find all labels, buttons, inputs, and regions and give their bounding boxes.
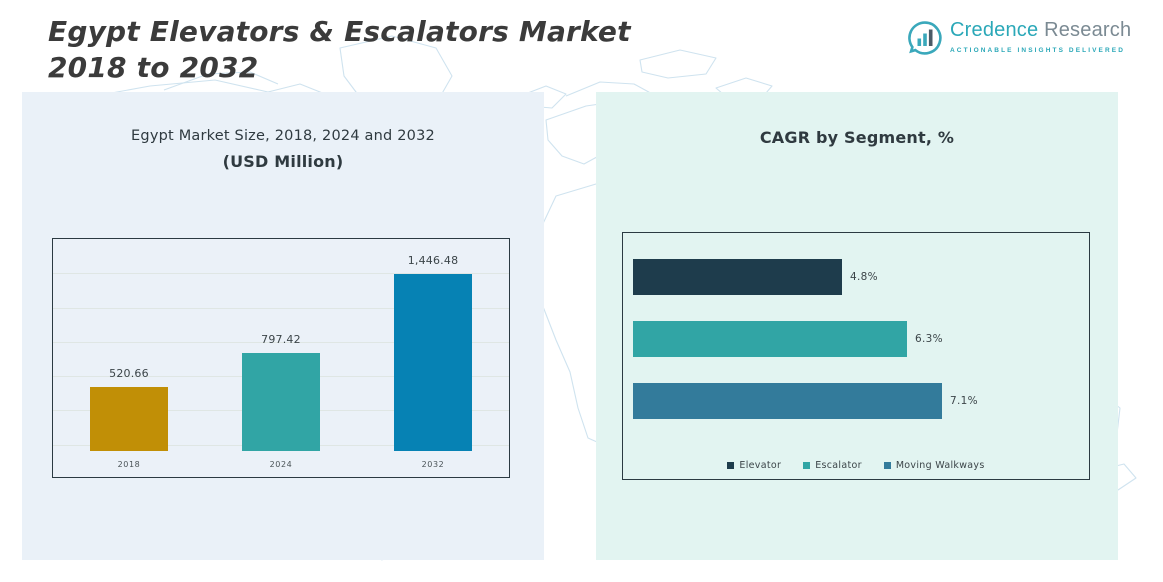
bar-value-label: 797.42 <box>261 333 301 346</box>
bar-group: 797.42 <box>205 239 357 451</box>
legend-label: Elevator <box>739 460 781 471</box>
bar-row: 4.8% <box>633 259 1079 295</box>
bar-chart-circle-icon <box>908 21 942 55</box>
bar <box>633 321 907 357</box>
market-size-subtitle: (USD Million) <box>22 152 544 171</box>
bar-row: 7.1% <box>633 383 1079 419</box>
cagr-bar-chart: 4.8%6.3%7.1% ElevatorEscalatorMoving Wal… <box>622 232 1090 480</box>
legend-swatch-icon <box>803 462 810 469</box>
bar-group: 1,446.48 <box>357 239 509 451</box>
bar-value-label: 520.66 <box>109 367 149 380</box>
cagr-chart-legend: ElevatorEscalatorMoving Walkways <box>623 460 1089 471</box>
legend-item[interactable]: Escalator <box>803 460 862 471</box>
bar <box>242 353 320 451</box>
market-size-bar-chart: 520.66797.421,446.48 201820242032 <box>52 238 510 478</box>
header: Egypt Elevators & Escalators Market 2018… <box>0 0 1163 92</box>
bar-category-label: 2032 <box>357 460 509 469</box>
bar <box>633 383 942 419</box>
bar-category-label: 2018 <box>53 460 205 469</box>
bar-category-label: 2024 <box>205 460 357 469</box>
bar <box>394 274 472 451</box>
bar-chart-category-axis: 201820242032 <box>53 451 509 477</box>
brand-name-secondary: Research <box>1038 19 1131 41</box>
brand-logo: Credence Research Actionable Insights De… <box>908 20 1163 56</box>
page-title: Egypt Elevators & Escalators Market 2018… <box>48 14 668 86</box>
legend-label: Escalator <box>815 460 862 471</box>
brand-name-primary: Credence <box>950 19 1038 41</box>
bar-value-label: 4.8% <box>850 271 878 283</box>
legend-item[interactable]: Moving Walkways <box>884 460 985 471</box>
market-size-title: Egypt Market Size, 2018, 2024 and 2032 <box>22 128 544 144</box>
market-size-chart-heading: Egypt Market Size, 2018, 2024 and 2032 (… <box>22 128 544 171</box>
bar <box>90 387 168 451</box>
cagr-chart-plot-area: 4.8%6.3%7.1% <box>633 233 1079 445</box>
legend-swatch-icon <box>727 462 734 469</box>
bar <box>633 259 842 295</box>
cagr-chart-heading: CAGR by Segment, % <box>596 128 1118 147</box>
brand-tagline: Actionable Insights Delivered <box>950 47 1125 54</box>
legend-item[interactable]: Elevator <box>727 460 781 471</box>
legend-label: Moving Walkways <box>896 460 985 471</box>
brand-name: Credence Research <box>950 19 1131 41</box>
bar-value-label: 7.1% <box>950 395 978 407</box>
bar-row: 6.3% <box>633 321 1079 357</box>
legend-swatch-icon <box>884 462 891 469</box>
cagr-title: CAGR by Segment, % <box>596 128 1118 147</box>
bar-value-label: 6.3% <box>915 333 943 345</box>
bar-group: 520.66 <box>53 239 205 451</box>
bar-chart-plot-area: 520.66797.421,446.48 <box>53 239 509 451</box>
bar-value-label: 1,446.48 <box>408 254 459 267</box>
